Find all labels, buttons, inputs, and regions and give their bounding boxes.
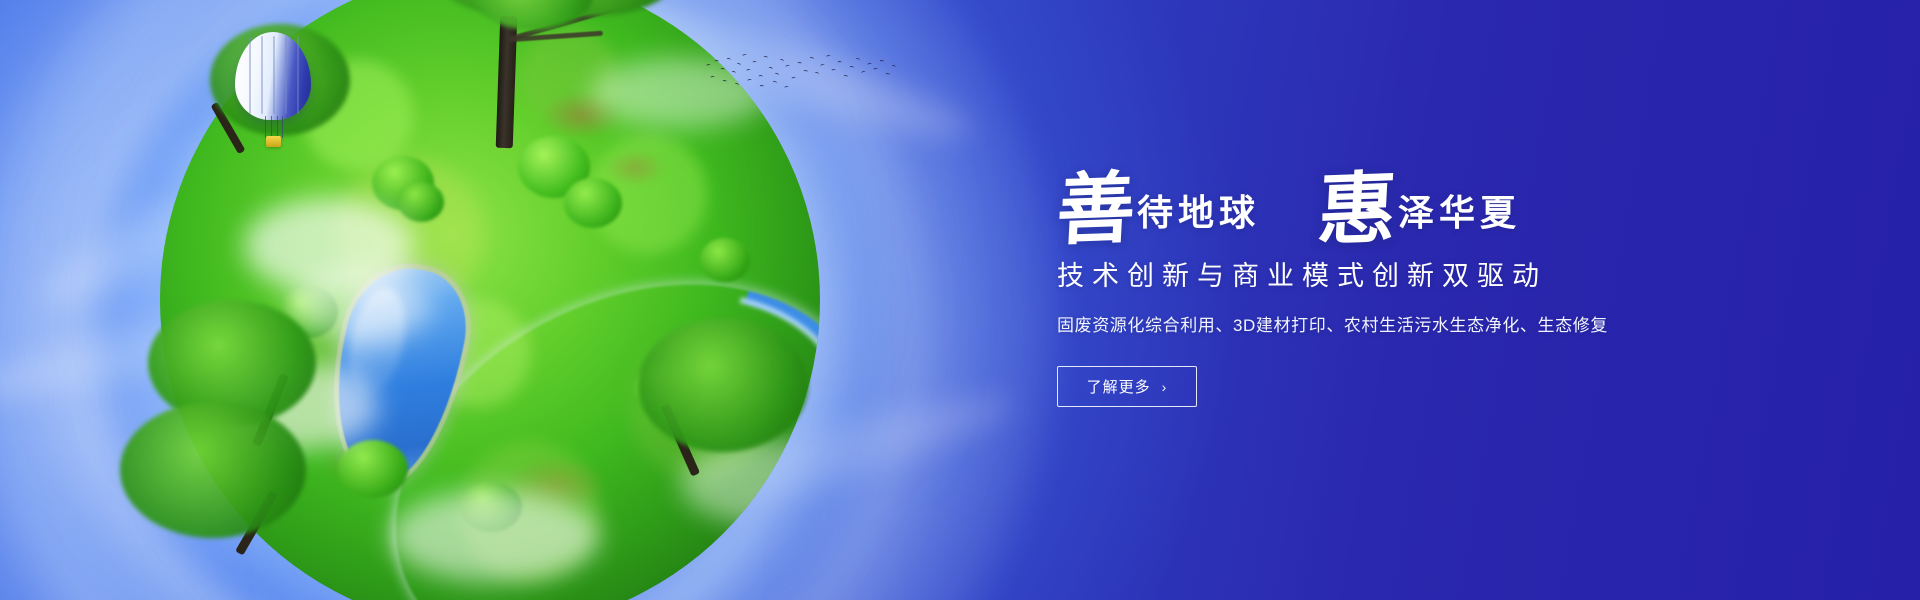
bird-icon (785, 64, 791, 69)
bird-icon (879, 60, 884, 64)
balloon-basket (266, 136, 281, 147)
bird-icon (849, 66, 855, 71)
headline-big-char-two: 惠 (1316, 173, 1398, 247)
bird-icon (752, 61, 758, 66)
bird-icon (873, 68, 878, 73)
headline-group-two: 惠 泽华夏 (1318, 174, 1521, 246)
bird-icon (843, 75, 848, 79)
bird-icon (891, 65, 897, 70)
learn-more-button[interactable]: 了解更多 › (1057, 366, 1197, 407)
headline-group-one: 善 待地球 (1057, 174, 1260, 246)
chevron-right-icon: › (1162, 380, 1168, 394)
hot-air-balloon-icon (235, 32, 325, 152)
bird-icon (720, 68, 725, 72)
bird-icon (809, 57, 815, 62)
bird-icon (831, 69, 837, 74)
bird-icon (778, 58, 784, 63)
page-title: 善 待地球 惠 泽华夏 (1057, 150, 1837, 246)
bird-icon (855, 57, 861, 62)
balloon-envelope (235, 32, 311, 120)
bird-icon (774, 72, 780, 77)
bird-icon (747, 78, 753, 83)
bird-icon (885, 73, 890, 77)
bird-icon (734, 82, 740, 87)
bird-icon (759, 85, 764, 89)
headline-big-char-one: 善 (1055, 173, 1137, 247)
bird-icon (742, 53, 748, 58)
bird-icon (819, 63, 825, 68)
bird-icon (860, 70, 866, 75)
bird-icon (706, 63, 712, 68)
bird-icon (731, 71, 737, 76)
bird-icon (784, 85, 790, 90)
bird-icon (803, 70, 808, 74)
bird-icon (763, 56, 768, 60)
hero-banner: 善 待地球 惠 泽华夏 技术创新与商业模式创新双驱动 固废资源化综合利用、3D建… (0, 0, 1920, 600)
bird-icon (726, 58, 731, 63)
bird-icon (768, 67, 774, 72)
bird-icon (722, 80, 727, 84)
bird-icon (837, 61, 842, 65)
bird-icon (814, 71, 820, 76)
bird-icon (736, 62, 742, 67)
bird-icon (826, 54, 832, 59)
bird-icon (791, 77, 797, 82)
headline-small-text-two: 泽华夏 (1398, 184, 1521, 246)
headline-small-text-one: 待地球 (1137, 184, 1260, 246)
bird-icon (710, 76, 716, 81)
bird-icon (714, 60, 719, 65)
bird-icon (797, 62, 802, 66)
hero-subtitle: 技术创新与商业模式创新双驱动 (1057, 260, 1837, 292)
bird-icon (746, 68, 752, 73)
bird-icon (758, 75, 763, 79)
hero-description: 固废资源化综合利用、3D建材打印、农村生活污水生态净化、生态修复 (1057, 314, 1837, 338)
bird-icon (772, 81, 778, 86)
birds-flock-icon (700, 42, 900, 112)
hero-copy: 善 待地球 惠 泽华夏 技术创新与商业模式创新双驱动 固废资源化综合利用、3D建… (1057, 150, 1837, 407)
bird-icon (867, 62, 873, 67)
learn-more-label: 了解更多 (1087, 376, 1151, 397)
balloon-cords (265, 116, 283, 138)
